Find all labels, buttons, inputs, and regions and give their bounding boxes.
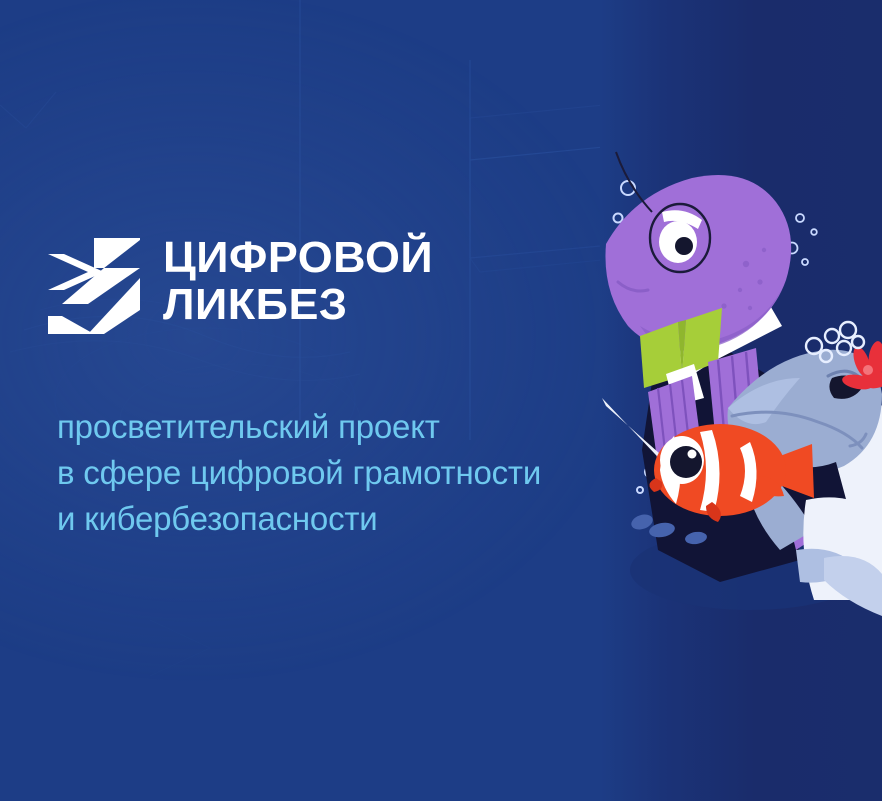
purple-fish-pupil-icon (675, 237, 693, 255)
tagline-line-3: и кибербезопасности (57, 496, 541, 542)
poster-canvas: ЦИФРОВОЙ ЛИКБЕЗ просветительский проект … (0, 0, 882, 801)
logo-mark-svg (48, 238, 140, 334)
logo-line-1: ЦИФРОВОЙ (163, 234, 433, 281)
tagline-line-2: в сфере цифровой грамотности (57, 450, 541, 496)
underwater-characters-illustration (600, 130, 882, 690)
project-tagline: просветительский проект в сфере цифровой… (57, 404, 541, 542)
tagline-line-1: просветительский проект (57, 404, 541, 450)
chevron-zigzag-mark-icon (48, 238, 140, 334)
logo-wordmark: ЦИФРОВОЙ ЛИКБЕЗ (163, 234, 428, 328)
air-bubbles-right-icon (787, 214, 817, 265)
logo-line-2: ЛИКБЕЗ (163, 281, 433, 328)
illustration-svg (600, 130, 882, 690)
